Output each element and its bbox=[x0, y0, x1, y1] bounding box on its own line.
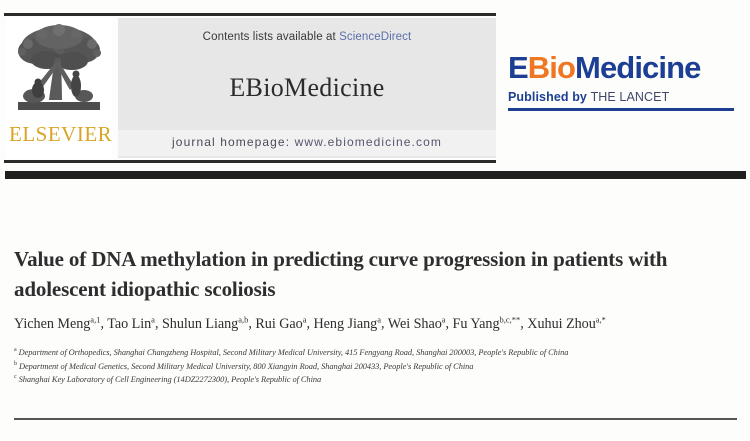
affiliation-item: bDepartment of Medical Genetics, Second … bbox=[14, 360, 744, 374]
article-bottom-rule bbox=[14, 418, 737, 420]
affiliation-text: Shanghai Key Laboratory of Cell Engineer… bbox=[19, 375, 322, 384]
journal-masthead: ELSEVIER Contents lists available at Sci… bbox=[0, 0, 750, 172]
author-name: Tao Lin bbox=[107, 316, 151, 332]
masthead-top-rule bbox=[4, 13, 496, 16]
author-name: Rui Gao bbox=[255, 316, 302, 332]
brand-underline-rule bbox=[508, 108, 734, 111]
affiliation-mark: a bbox=[14, 347, 17, 353]
author-separator: , bbox=[155, 316, 162, 332]
masthead-bottom-rule bbox=[4, 160, 496, 163]
author-affiliation-mark: b,c,** bbox=[500, 314, 521, 324]
homepage-url-link[interactable]: www.ebiomedicine.com bbox=[295, 135, 442, 149]
author-entry[interactable]: Wei Shaoa bbox=[388, 316, 446, 332]
the-lancet-label: THE LANCET bbox=[591, 90, 670, 104]
author-entry[interactable]: Tao Lina bbox=[107, 316, 155, 332]
contents-available-line: Contents lists available at ScienceDirec… bbox=[118, 31, 496, 43]
elsevier-wordmark: ELSEVIER bbox=[9, 124, 109, 145]
author-entry[interactable]: Fu Yangb,c,** bbox=[453, 316, 521, 332]
author-affiliation-mark: a,1 bbox=[90, 314, 100, 324]
page-title: Value of DNA methylation in predicting c… bbox=[14, 245, 734, 305]
affiliation-text: Department of Orthopedics, Shanghai Chan… bbox=[19, 348, 569, 357]
author-separator: , bbox=[446, 316, 453, 332]
author-list: Yichen Menga,1, Tao Lina, Shulun Lianga,… bbox=[14, 314, 744, 333]
author-name: Heng Jiang bbox=[313, 316, 377, 332]
author-name: Yichen Meng bbox=[14, 316, 90, 332]
affiliation-text: Department of Medical Genetics, Second M… bbox=[19, 362, 473, 371]
journal-banner: Contents lists available at ScienceDirec… bbox=[118, 18, 496, 158]
brand-wordmark: EBioMedicine bbox=[508, 52, 746, 83]
author-separator: , bbox=[381, 316, 388, 332]
author-name: Shulun Liang bbox=[162, 316, 238, 332]
brand-segment-medicine: Medicine bbox=[575, 50, 700, 85]
article-page: ELSEVIER Contents lists available at Sci… bbox=[0, 0, 750, 441]
author-name: Xuhui Zhou bbox=[527, 316, 595, 332]
journal-title: EBioMedicine bbox=[118, 73, 496, 103]
affiliation-item: aDepartment of Orthopedics, Shanghai Cha… bbox=[14, 346, 744, 360]
affiliation-mark: b bbox=[14, 361, 17, 367]
brand-segment-bio: Bio bbox=[528, 50, 575, 85]
author-entry[interactable]: Xuhui Zhoua,* bbox=[527, 316, 606, 332]
author-entry[interactable]: Yichen Menga,1 bbox=[14, 316, 100, 332]
homepage-label: journal homepage: bbox=[172, 135, 295, 149]
elsevier-tree-icon bbox=[14, 20, 104, 124]
brand-segment-e: E bbox=[508, 50, 528, 85]
author-entry[interactable]: Shulun Lianga,b bbox=[162, 316, 248, 332]
affiliation-mark: c bbox=[14, 374, 17, 380]
author-affiliation-mark: a,* bbox=[596, 314, 606, 324]
published-by-label: Published by bbox=[508, 90, 591, 104]
sciencedirect-link[interactable]: ScienceDirect bbox=[339, 31, 411, 43]
contents-prefix-text: Contents lists available at bbox=[203, 31, 339, 43]
author-name: Wei Shao bbox=[388, 316, 442, 332]
journal-homepage-line: journal homepage: www.ebiomedicine.com bbox=[118, 135, 496, 149]
author-affiliation-mark: a,b bbox=[238, 314, 248, 324]
author-entry[interactable]: Heng Jianga bbox=[313, 316, 381, 332]
author-entry[interactable]: Rui Gaoa bbox=[255, 316, 306, 332]
elsevier-logo: ELSEVIER bbox=[6, 18, 112, 158]
author-name: Fu Yang bbox=[453, 316, 500, 332]
masthead-divider-rule bbox=[5, 171, 746, 179]
brand-subtitle: Published by THE LANCET bbox=[508, 90, 746, 104]
affiliation-list: aDepartment of Orthopedics, Shanghai Cha… bbox=[14, 346, 744, 387]
affiliation-item: cShanghai Key Laboratory of Cell Enginee… bbox=[14, 373, 744, 387]
ebiomedicine-brand-logo: EBioMedicine Published by THE LANCET bbox=[508, 52, 746, 124]
